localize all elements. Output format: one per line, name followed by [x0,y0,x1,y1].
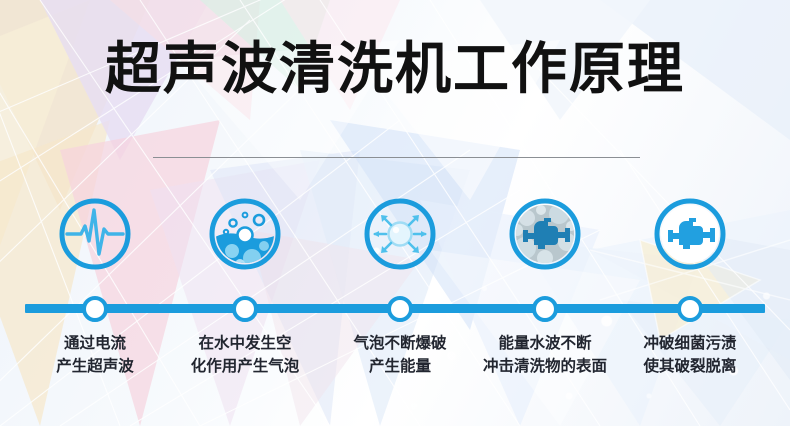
step-5-caption: 冲破细菌污渍 使其破裂脱离 [605,332,775,379]
bursting-bubble-icon [362,196,438,272]
step-2[interactable]: 在水中发生空 化作用产生气泡 [160,196,330,272]
step-1-caption-line1: 通过电流 [10,332,180,355]
step-1-caption-line2: 产生超声波 [10,355,180,378]
waveform-pulse-icon [57,196,133,272]
timeline-node-2[interactable] [232,296,258,322]
step-2-caption-line2: 化作用产生气泡 [160,355,330,378]
step-5-caption-line1: 冲破细菌污渍 [605,332,775,355]
timeline-node-1[interactable] [82,296,108,322]
bubbles-in-water-icon [207,196,283,272]
timeline-node-4[interactable] [532,296,558,322]
clean-machine-part-icon [652,196,728,272]
step-5[interactable]: 冲破细菌污渍 使其破裂脱离 [605,196,775,272]
step-2-caption: 在水中发生空 化作用产生气泡 [160,332,330,379]
infographic-poster: 超声波清洗机工作原理 通过电流 产生超声波 [0,0,790,426]
page-title: 超声波清洗机工作原理 [0,40,790,99]
dirty-machine-part-icon [507,196,583,272]
title-divider [153,157,640,158]
step-2-caption-line1: 在水中发生空 [160,332,330,355]
step-1[interactable]: 通过电流 产生超声波 [10,196,180,272]
timeline-node-3[interactable] [387,296,413,322]
step-5-caption-line2: 使其破裂脱离 [605,355,775,378]
step-1-caption: 通过电流 产生超声波 [10,332,180,379]
timeline-node-5[interactable] [677,296,703,322]
